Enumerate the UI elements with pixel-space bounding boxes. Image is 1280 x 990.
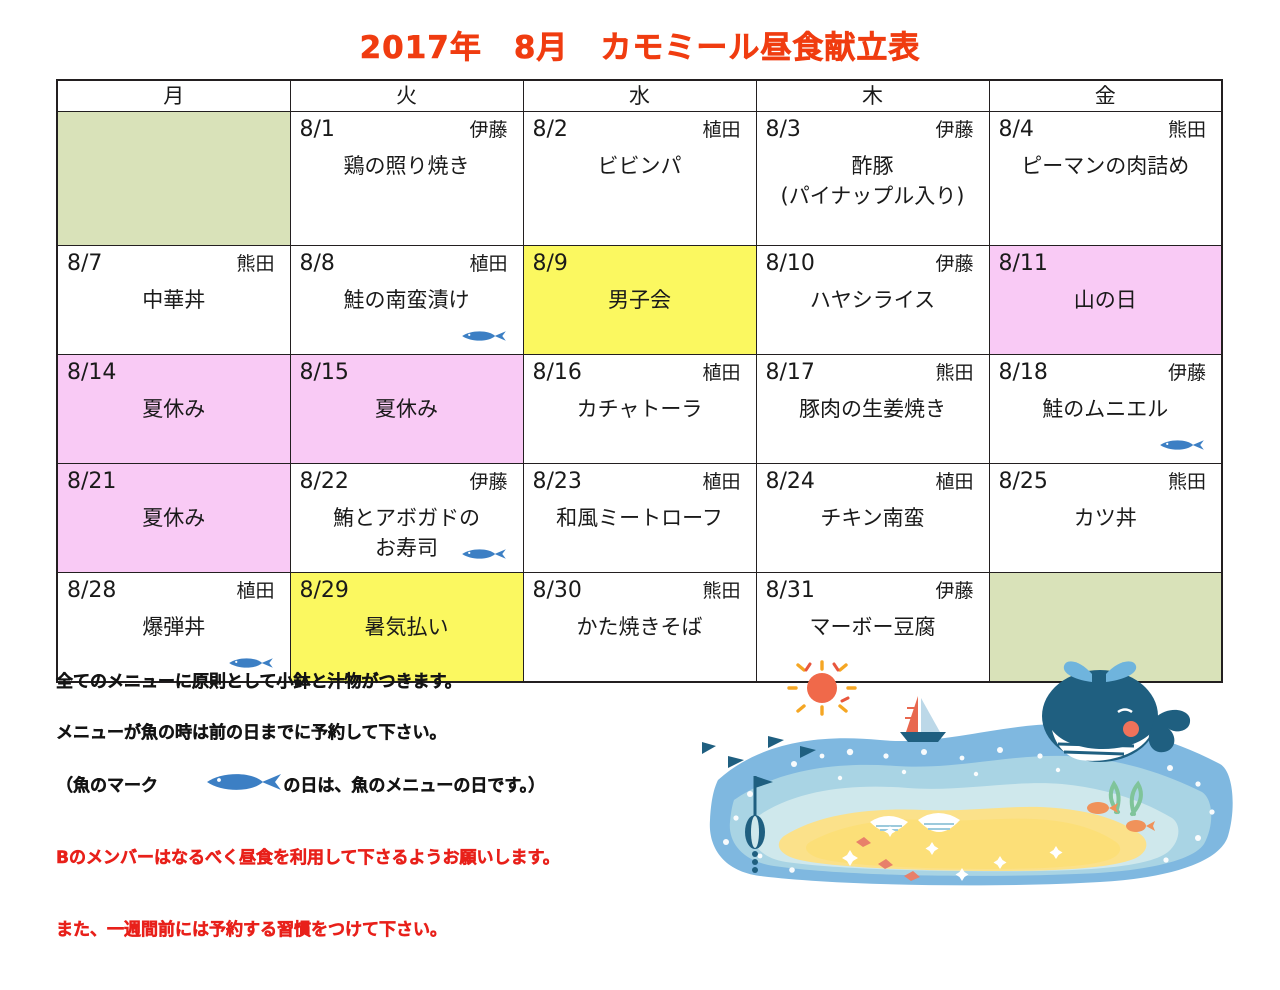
calendar-container: 月 火 水 木 金 8/1伊藤鶏の照り焼き8/2植田ビビンパ8/3伊藤酢豚 (パ… xyxy=(56,79,1221,683)
day-menu-text: 鮭のムニエル xyxy=(999,394,1213,424)
day-cell-content: 8/16植田カチャトーラ xyxy=(524,355,756,463)
day-cell-header: 8/24植田 xyxy=(766,468,980,496)
day-menu-text: 夏休み xyxy=(67,503,281,533)
calendar-week-row: 8/1伊藤鶏の照り焼き8/2植田ビビンパ8/3伊藤酢豚 (パイナップル入り)8/… xyxy=(57,112,1222,246)
day-staff-label: 熊田 xyxy=(1168,468,1212,496)
day-date-label: 8/29 xyxy=(300,577,349,605)
day-cell-header: 8/8植田 xyxy=(300,250,514,278)
day-cell-content xyxy=(58,112,290,245)
calendar-day-cell: 8/11山の日 xyxy=(989,246,1222,355)
day-staff-label: 植田 xyxy=(236,577,280,605)
day-cell-content: 8/22伊藤鮪とアボガドの お寿司 xyxy=(291,464,523,572)
day-staff-label: 熊田 xyxy=(702,577,746,605)
day-cell-content: 8/28植田爆弾丼 xyxy=(58,573,290,681)
day-menu-text: 鮪とアボガドの お寿司 xyxy=(300,503,514,563)
weekday-header-mon: 月 xyxy=(57,80,290,112)
day-staff-label: 伊藤 xyxy=(1168,359,1212,387)
note-line-1: 全てのメニューに原則として小鉢と汁物がつきます。 xyxy=(56,670,696,695)
day-menu-text: 暑気払い xyxy=(300,612,514,642)
day-cell-content: 8/29暑気払い xyxy=(291,573,523,681)
day-cell-content: 8/7熊田中華丼 xyxy=(58,246,290,354)
weekday-header-row: 月 火 水 木 金 xyxy=(57,80,1222,112)
day-staff-label: 熊田 xyxy=(236,250,280,278)
calendar-day-cell: 8/25熊田カツ丼 xyxy=(989,464,1222,573)
day-date-label: 8/18 xyxy=(999,359,1048,387)
day-date-label: 8/15 xyxy=(300,359,349,387)
day-menu-text: 夏休み xyxy=(300,394,514,424)
day-menu-text: チキン南蛮 xyxy=(766,503,980,533)
day-cell-header: 8/23植田 xyxy=(533,468,747,496)
weekday-header-fri: 金 xyxy=(989,80,1222,112)
day-menu-text: 爆弾丼 xyxy=(67,612,281,642)
day-staff-label: 伊藤 xyxy=(935,250,979,278)
day-cell-content: 8/25熊田カツ丼 xyxy=(990,464,1222,572)
calendar-day-cell: 8/3伊藤酢豚 (パイナップル入り) xyxy=(756,112,989,246)
day-cell-content: 8/21夏休み xyxy=(58,464,290,572)
day-cell-content: 8/9男子会 xyxy=(524,246,756,354)
day-menu-text: 和風ミートローフ xyxy=(533,503,747,533)
day-cell-content: 8/23植田和風ミートローフ xyxy=(524,464,756,572)
calendar-day-cell: 8/16植田カチャトーラ xyxy=(523,355,756,464)
day-cell-header: 8/14 xyxy=(67,359,281,387)
fish-icon xyxy=(1159,435,1205,455)
calendar-body: 8/1伊藤鶏の照り焼き8/2植田ビビンパ8/3伊藤酢豚 (パイナップル入り)8/… xyxy=(57,112,1222,683)
day-cell-content: 8/17熊田豚肉の生姜焼き xyxy=(757,355,989,463)
day-cell-header: 8/2植田 xyxy=(533,116,747,144)
calendar-empty-cell xyxy=(57,112,290,246)
day-cell-content: 8/10伊藤ハヤシライス xyxy=(757,246,989,354)
day-date-label: 8/24 xyxy=(766,468,815,496)
calendar-day-cell: 8/24植田チキン南蛮 xyxy=(756,464,989,573)
calendar-day-cell: 8/9男子会 xyxy=(523,246,756,355)
day-date-label: 8/11 xyxy=(999,250,1048,278)
red-note-line-1: Bのメンバーはなるべく昼食を利用して下さるようお願いします。 xyxy=(56,846,716,870)
menu-sheet-page: 2017年 8月 カモミール昼食献立表 月 火 水 木 金 8/1伊藤鶏の照り焼… xyxy=(0,0,1280,905)
day-staff-label: 植田 xyxy=(702,359,746,387)
fish-icon xyxy=(461,326,507,346)
notes-red-block: Bのメンバーはなるべく昼食を利用して下さるようお願いします。 また、一週間前には… xyxy=(56,798,716,990)
day-date-label: 8/17 xyxy=(766,359,815,387)
day-date-label: 8/31 xyxy=(766,577,815,605)
day-cell-header: 8/4熊田 xyxy=(999,116,1213,144)
day-staff-label: 植田 xyxy=(702,116,746,144)
day-date-label: 8/9 xyxy=(533,250,568,278)
day-cell-header: 8/10伊藤 xyxy=(766,250,980,278)
day-date-label: 8/28 xyxy=(67,577,116,605)
day-cell-content: 8/24植田チキン南蛮 xyxy=(757,464,989,572)
day-cell-header: 8/3伊藤 xyxy=(766,116,980,144)
day-cell-content: 8/3伊藤酢豚 (パイナップル入り) xyxy=(757,112,989,245)
day-menu-text: カチャトーラ xyxy=(533,394,747,424)
day-menu-text: 男子会 xyxy=(533,285,747,315)
calendar-week-row: 8/7熊田中華丼8/8植田鮭の南蛮漬け8/9男子会8/10伊藤ハヤシライス8/1… xyxy=(57,246,1222,355)
day-staff-label: 伊藤 xyxy=(469,116,513,144)
calendar-day-cell: 8/7熊田中華丼 xyxy=(57,246,290,355)
day-cell-header: 8/1伊藤 xyxy=(300,116,514,144)
summer-beach-whale-illustration xyxy=(700,660,1245,895)
day-cell-content: 8/1伊藤鶏の照り焼き xyxy=(291,112,523,245)
day-date-label: 8/8 xyxy=(300,250,335,278)
calendar-day-cell: 8/14夏休み xyxy=(57,355,290,464)
calendar-day-cell: 8/10伊藤ハヤシライス xyxy=(756,246,989,355)
day-date-label: 8/3 xyxy=(766,116,801,144)
day-date-label: 8/21 xyxy=(67,468,116,496)
weekday-header-thu: 木 xyxy=(756,80,989,112)
day-date-label: 8/23 xyxy=(533,468,582,496)
day-cell-header: 8/30熊田 xyxy=(533,577,747,605)
day-menu-text: 豚肉の生姜焼き xyxy=(766,394,980,424)
day-cell-content: 8/2植田ビビンパ xyxy=(524,112,756,245)
day-cell-header: 8/9 xyxy=(533,250,747,278)
day-menu-text: 中華丼 xyxy=(67,285,281,315)
day-menu-text: マーボー豆腐 xyxy=(766,612,980,642)
day-menu-text: ハヤシライス xyxy=(766,285,980,315)
calendar-day-cell: 8/4熊田ピーマンの肉詰め xyxy=(989,112,1222,246)
day-cell-content: 8/8植田鮭の南蛮漬け xyxy=(291,246,523,354)
day-cell-content: 8/14夏休み xyxy=(58,355,290,463)
day-staff-label: 伊藤 xyxy=(935,577,979,605)
day-cell-header: 8/22伊藤 xyxy=(300,468,514,496)
calendar-day-cell: 8/21夏休み xyxy=(57,464,290,573)
day-cell-header: 8/25熊田 xyxy=(999,468,1213,496)
day-staff-label: 植田 xyxy=(935,468,979,496)
calendar-week-row: 8/21夏休み8/22伊藤鮪とアボガドの お寿司8/23植田和風ミートローフ8/… xyxy=(57,464,1222,573)
note-line-2: メニューが魚の時は前の日までに予約して下さい。 xyxy=(56,721,696,746)
day-staff-label: 植田 xyxy=(702,468,746,496)
day-menu-text: ビビンパ xyxy=(533,151,747,181)
day-menu-text: 夏休み xyxy=(67,394,281,424)
day-menu-text: 鶏の照り焼き xyxy=(300,151,514,181)
day-menu-text: 酢豚 (パイナップル入り) xyxy=(766,151,980,211)
calendar-day-cell: 8/18伊藤鮭のムニエル xyxy=(989,355,1222,464)
day-staff-label: 熊田 xyxy=(1168,116,1212,144)
day-date-label: 8/2 xyxy=(533,116,568,144)
note-line-3-before: （魚のマーク xyxy=(56,774,158,799)
day-cell-header: 8/11 xyxy=(999,250,1213,278)
day-cell-header: 8/31伊藤 xyxy=(766,577,980,605)
day-date-label: 8/16 xyxy=(533,359,582,387)
day-cell-content: 8/11山の日 xyxy=(990,246,1222,354)
day-menu-text: 鮭の南蛮漬け xyxy=(300,285,514,315)
day-cell-header: 8/15 xyxy=(300,359,514,387)
calendar-day-cell: 8/1伊藤鶏の照り焼き xyxy=(290,112,523,246)
day-staff-label: 伊藤 xyxy=(469,468,513,496)
day-staff-label: 熊田 xyxy=(935,359,979,387)
day-cell-header: 8/16植田 xyxy=(533,359,747,387)
day-cell-header: 8/7熊田 xyxy=(67,250,281,278)
day-date-label: 8/10 xyxy=(766,250,815,278)
day-date-label: 8/22 xyxy=(300,468,349,496)
day-date-label: 8/7 xyxy=(67,250,102,278)
note-line-3-after: の日は、魚のメニューの日です。） xyxy=(283,774,545,799)
day-cell-content: 8/15夏休み xyxy=(291,355,523,463)
day-cell-content: 8/4熊田ピーマンの肉詰め xyxy=(990,112,1222,245)
weekday-header-tue: 火 xyxy=(290,80,523,112)
day-cell-header: 8/28植田 xyxy=(67,577,281,605)
calendar-day-cell: 8/15夏休み xyxy=(290,355,523,464)
day-menu-text: かた焼きそば xyxy=(533,612,747,642)
calendar-day-cell: 8/2植田ビビンパ xyxy=(523,112,756,246)
day-menu-text: 山の日 xyxy=(999,285,1213,315)
day-cell-content: 8/18伊藤鮭のムニエル xyxy=(990,355,1222,463)
day-staff-label: 植田 xyxy=(469,250,513,278)
day-date-label: 8/1 xyxy=(300,116,335,144)
day-cell-header: 8/29 xyxy=(300,577,514,605)
day-date-label: 8/25 xyxy=(999,468,1048,496)
calendar-day-cell: 8/22伊藤鮪とアボガドの お寿司 xyxy=(290,464,523,573)
day-staff-label: 伊藤 xyxy=(935,116,979,144)
calendar-day-cell: 8/8植田鮭の南蛮漬け xyxy=(290,246,523,355)
lunch-menu-calendar: 月 火 水 木 金 8/1伊藤鶏の照り焼き8/2植田ビビンパ8/3伊藤酢豚 (パ… xyxy=(56,79,1223,683)
day-menu-text: カツ丼 xyxy=(999,503,1213,533)
calendar-day-cell: 8/23植田和風ミートローフ xyxy=(523,464,756,573)
calendar-day-cell: 8/29暑気払い xyxy=(290,573,523,683)
weekday-header-wed: 水 xyxy=(523,80,756,112)
day-menu-text: ピーマンの肉詰め xyxy=(999,151,1213,181)
calendar-day-cell: 8/17熊田豚肉の生姜焼き xyxy=(756,355,989,464)
page-title: 2017年 8月 カモミール昼食献立表 xyxy=(0,22,1280,67)
day-date-label: 8/30 xyxy=(533,577,582,605)
day-date-label: 8/14 xyxy=(67,359,116,387)
red-note-line-2: また、一週間前には予約する習慣をつけて下さい。 xyxy=(56,918,716,942)
day-cell-header: 8/18伊藤 xyxy=(999,359,1213,387)
day-cell-header: 8/17熊田 xyxy=(766,359,980,387)
day-date-label: 8/4 xyxy=(999,116,1034,144)
calendar-day-cell: 8/28植田爆弾丼 xyxy=(57,573,290,683)
day-cell-header: 8/21 xyxy=(67,468,281,496)
calendar-week-row: 8/14夏休み8/15夏休み8/16植田カチャトーラ8/17熊田豚肉の生姜焼き8… xyxy=(57,355,1222,464)
